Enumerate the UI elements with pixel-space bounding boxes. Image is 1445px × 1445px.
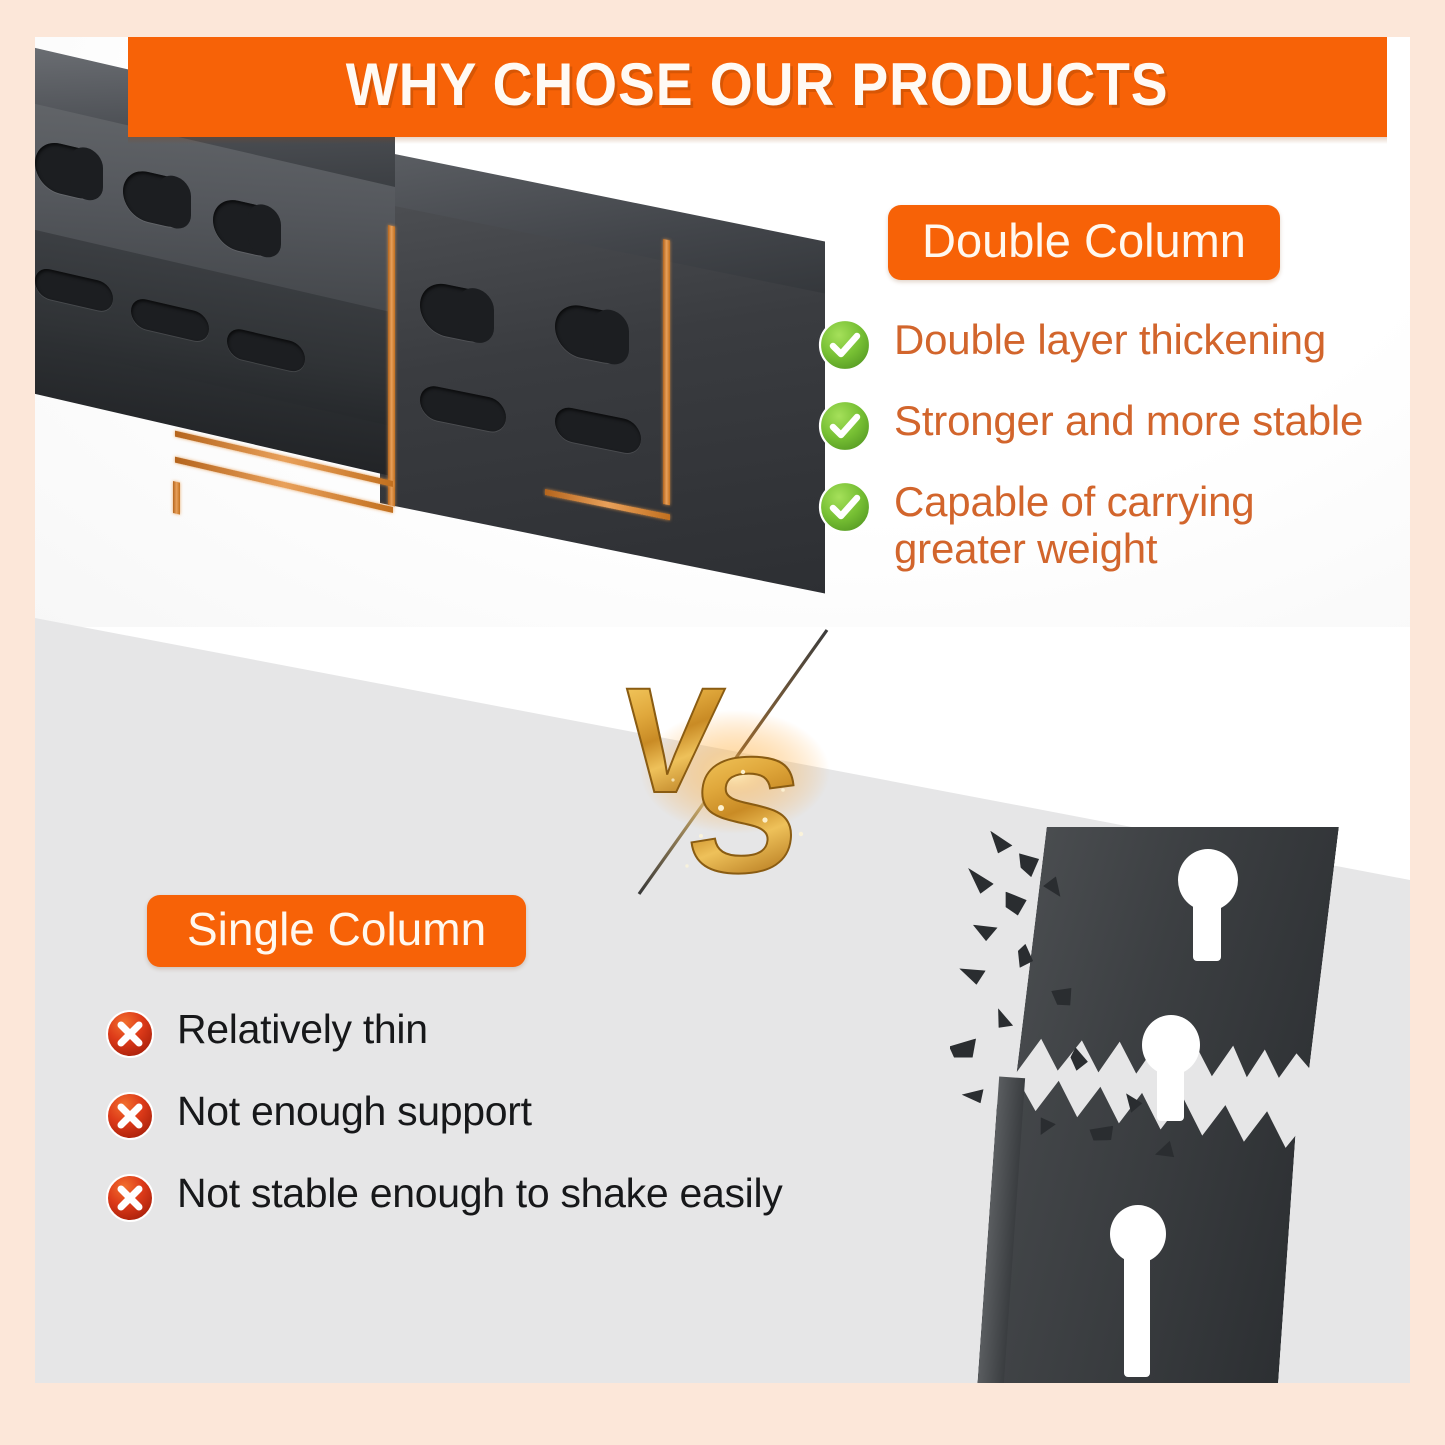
feature-item: Stronger and more stable (818, 397, 1388, 453)
check-circle-icon (818, 480, 872, 534)
rail-slot (35, 138, 103, 204)
feature-item: Relatively thin (105, 1007, 870, 1059)
rail-slot (420, 279, 494, 346)
rail-slot (420, 383, 506, 434)
feature-label: Not enough support (177, 1089, 532, 1134)
feature-label: Relatively thin (177, 1007, 428, 1052)
post-keyhole-slot (1193, 895, 1221, 961)
header-banner: WHY CHOSE OUR PRODUCTS (128, 37, 1387, 137)
double-column-feature-list: Double layer thickening Stronger and mor… (818, 316, 1388, 572)
debris-fragment (1017, 849, 1043, 879)
debris-fragment (1003, 892, 1028, 917)
double-column-steel-rails-photo (35, 107, 825, 577)
debris-fragment (973, 921, 999, 942)
content-canvas: V S Double Column (35, 37, 1410, 1383)
feature-label: Capable of carrying greater weight (894, 478, 1294, 572)
debris-fragment (956, 964, 985, 986)
page-title: WHY CHOSE OUR PRODUCTS (346, 55, 1169, 119)
versus-graphic: V S (615, 622, 875, 902)
rail-slot (555, 301, 629, 368)
post-keyhole-slot (1157, 1059, 1184, 1121)
debris-fragment (960, 865, 993, 896)
feature-item: Not stable enough to shake easily (105, 1171, 870, 1223)
rail-slot (227, 326, 305, 374)
feature-item: Double layer thickening (818, 316, 1388, 372)
infographic-page: V S Double Column (0, 0, 1445, 1445)
vs-letters: V S (615, 622, 875, 902)
debris-fragment (950, 1038, 979, 1061)
cross-circle-icon (105, 1009, 155, 1059)
svg-text:S: S (680, 723, 809, 902)
post-keyhole-slot (1124, 1247, 1150, 1377)
single-column-badge: Single Column (147, 895, 526, 967)
rail-slot (123, 166, 191, 232)
debris-fragment (962, 1085, 989, 1109)
copper-edge-highlight (663, 239, 670, 505)
check-circle-icon (818, 399, 872, 453)
feature-label: Stronger and more stable (894, 397, 1363, 444)
single-column-feature-list: Relatively thin Not enough support Not s… (105, 1007, 870, 1223)
cross-circle-icon (105, 1173, 155, 1223)
copper-edge-highlight (173, 481, 180, 515)
copper-edge-highlight (388, 225, 395, 506)
cross-circle-icon (105, 1091, 155, 1141)
rail-slot (213, 195, 281, 261)
single-column-section: Single Column Rel (70, 895, 870, 1253)
debris-fragment (989, 1008, 1016, 1033)
feature-label: Double layer thickening (894, 316, 1326, 363)
feature-label: Not stable enough to shake easily (177, 1171, 783, 1216)
double-column-badge: Double Column (888, 205, 1280, 280)
feature-item: Capable of carrying greater weight (818, 478, 1388, 572)
double-column-section: Double Column Dou (818, 205, 1388, 572)
check-circle-icon (818, 318, 872, 372)
rail-slot (131, 296, 209, 344)
rail-slot (555, 405, 641, 456)
feature-item: Not enough support (105, 1089, 870, 1141)
broken-single-column-post-photo (950, 827, 1410, 1383)
header-shadow (128, 137, 1387, 144)
debris-fragment (984, 831, 1015, 857)
rail-slot (35, 266, 113, 314)
